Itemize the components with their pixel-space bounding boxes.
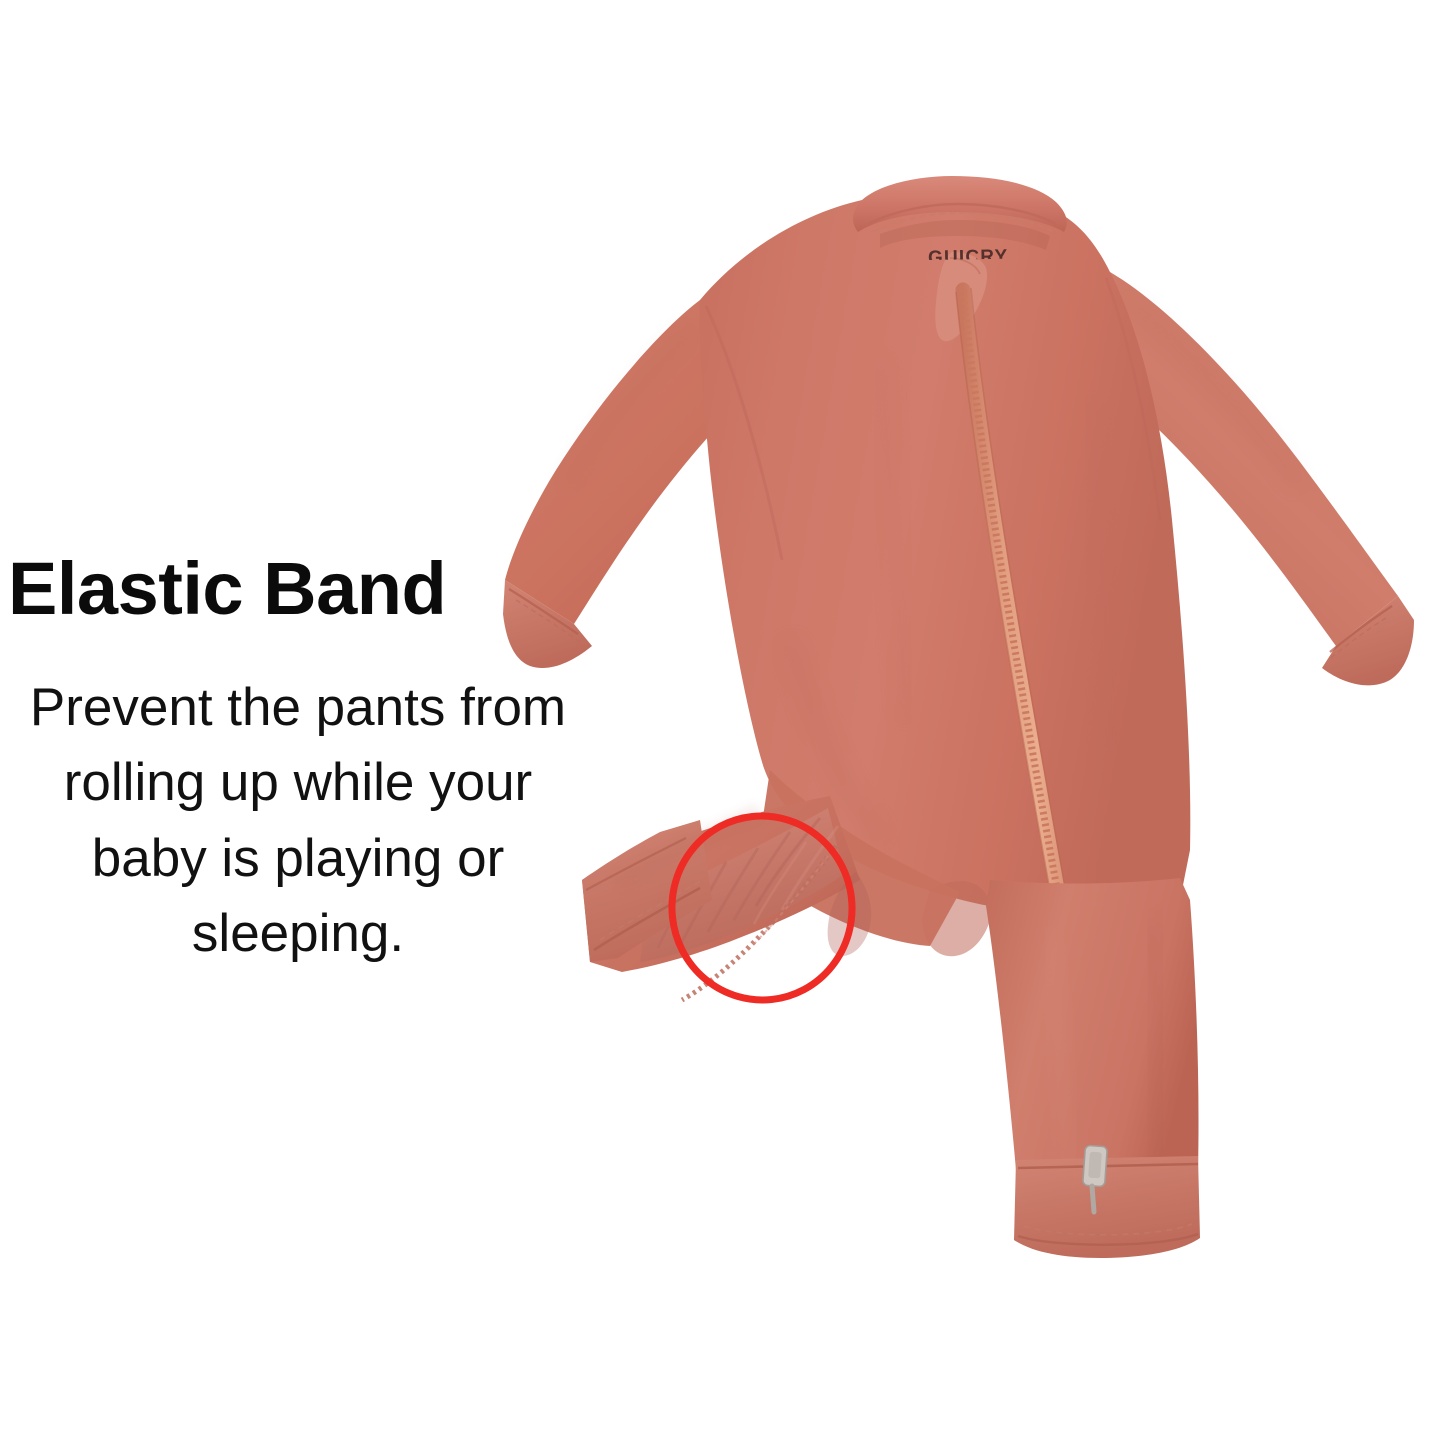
product-feature-image: GUICRY Elastic Band Prevent the pants fr… <box>0 0 1445 1445</box>
description-line-4: sleeping. <box>8 896 588 971</box>
description-line-1: Prevent the pants from <box>8 670 588 745</box>
feature-text-panel: Elastic Band Prevent the pants from roll… <box>0 552 600 971</box>
description-line-2: rolling up while your <box>8 745 588 820</box>
description-line-3: baby is playing or <box>8 821 588 896</box>
feature-description: Prevent the pants from rolling up while … <box>0 670 600 971</box>
right-ankle-cuff <box>1014 1156 1200 1258</box>
page-title: Elastic Band <box>0 552 600 626</box>
